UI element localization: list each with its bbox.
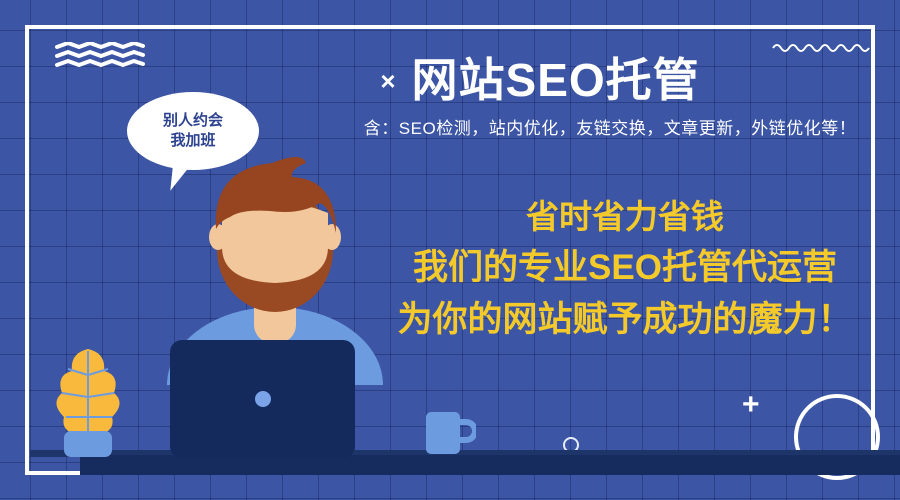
wave-lines-icon (55, 42, 145, 68)
cross-icon: × (380, 68, 395, 94)
slogan-line-1: 省时省力省钱 (370, 192, 880, 242)
title-text: 网站SEO托管 (412, 44, 700, 110)
coffee-mug-icon (424, 408, 476, 458)
slogan-line-3: 为你的网站赋予成功的魔力！ (370, 294, 880, 347)
laptop-screen (170, 340, 355, 458)
desk-surface (80, 455, 900, 475)
page-title: × 网站SEO托管 (330, 44, 750, 110)
slogan-line-2: 我们的专业SEO托管代运营 (370, 242, 880, 295)
poster-canvas: × 网站SEO托管 含：SEO检测，站内优化，友链交换，文章更新，外链优化等！ … (0, 0, 900, 500)
potted-leaf-plant-icon (48, 345, 128, 460)
laptop-logo-icon (255, 391, 271, 407)
speech-bubble-line-1: 别人约会 (163, 111, 223, 131)
speech-bubble-line-2: 我加班 (170, 131, 215, 151)
wave-line-icon (772, 40, 872, 54)
speech-bubble: 别人约会 我加班 (127, 92, 259, 170)
subtitle-text: 含：SEO检测，站内优化，友链交换，文章更新，外链优化等！ (330, 114, 890, 139)
plus-icon: + (742, 390, 760, 420)
slogan-group: 省时省力省钱 我们的专业SEO托管代运营 为你的网站赋予成功的魔力！ (370, 192, 880, 347)
